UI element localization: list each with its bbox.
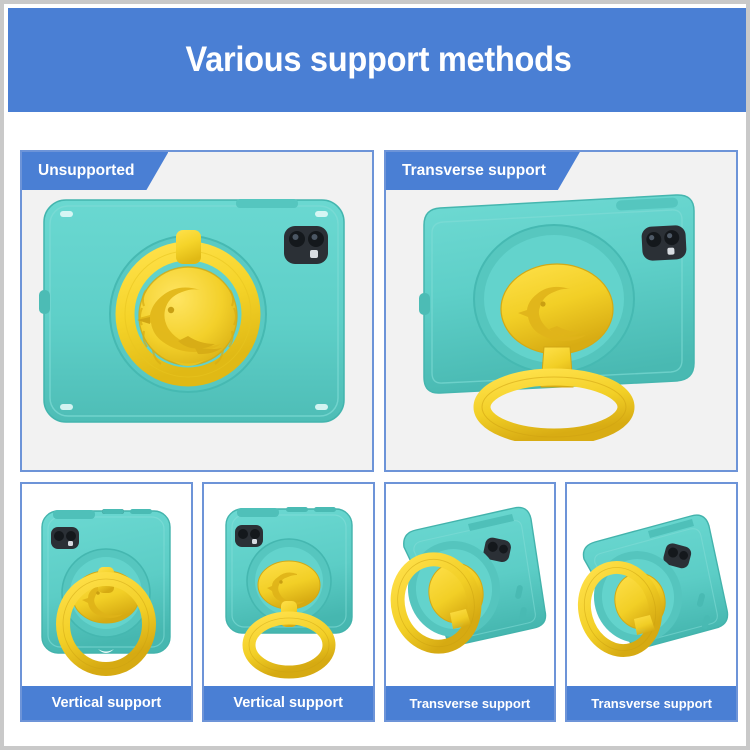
infographic-page: Various support methods Unsupported (0, 0, 750, 750)
product-image-transverse-support-2 (567, 484, 736, 686)
tablet-case-icon (38, 186, 356, 436)
panel-tab-label: Unsupported (38, 162, 134, 180)
tablet-case-icon (402, 181, 720, 441)
panel-label-transverse-support-2: Transverse support (567, 686, 736, 720)
panel-tab-label: Transverse support (402, 162, 546, 180)
camera-module-icon (51, 527, 79, 549)
tablet-case-icon (208, 489, 368, 681)
page-title: Various support methods (186, 40, 572, 80)
bottom-panel-row: Vertical support (20, 482, 738, 722)
camera-module-icon (235, 525, 263, 547)
panel-label-vertical-support-2: Vertical support (204, 686, 373, 720)
header-banner: Various support methods (8, 8, 750, 112)
panel-vertical-support-2[interactable]: Vertical support (202, 482, 375, 722)
panel-tab-unsupported: Unsupported (22, 152, 168, 190)
tablet-case-icon (572, 489, 732, 681)
panel-transverse-support-1[interactable]: Transverse support (384, 482, 557, 722)
panel-transverse-support[interactable]: Transverse support (384, 150, 738, 472)
panel-label-transverse-support-1: Transverse support (386, 686, 555, 720)
panel-unsupported[interactable]: Unsupported (20, 150, 374, 472)
product-image-vertical-support-1 (22, 484, 191, 686)
product-image-transverse-support-1 (386, 484, 555, 686)
panel-transverse-support-2[interactable]: Transverse support (565, 482, 738, 722)
camera-module-icon (641, 225, 687, 261)
panel-tab-transverse-support: Transverse support (386, 152, 580, 190)
tablet-case-icon (26, 489, 186, 681)
tablet-case-icon (390, 489, 550, 681)
product-image-transverse-support (386, 152, 736, 470)
panel-label-vertical-support-1: Vertical support (22, 686, 191, 720)
product-image-unsupported (22, 152, 372, 470)
product-image-vertical-support-2 (204, 484, 373, 686)
panel-vertical-support-1[interactable]: Vertical support (20, 482, 193, 722)
top-panel-row: Unsupported (20, 150, 738, 472)
camera-module-icon (284, 226, 328, 264)
